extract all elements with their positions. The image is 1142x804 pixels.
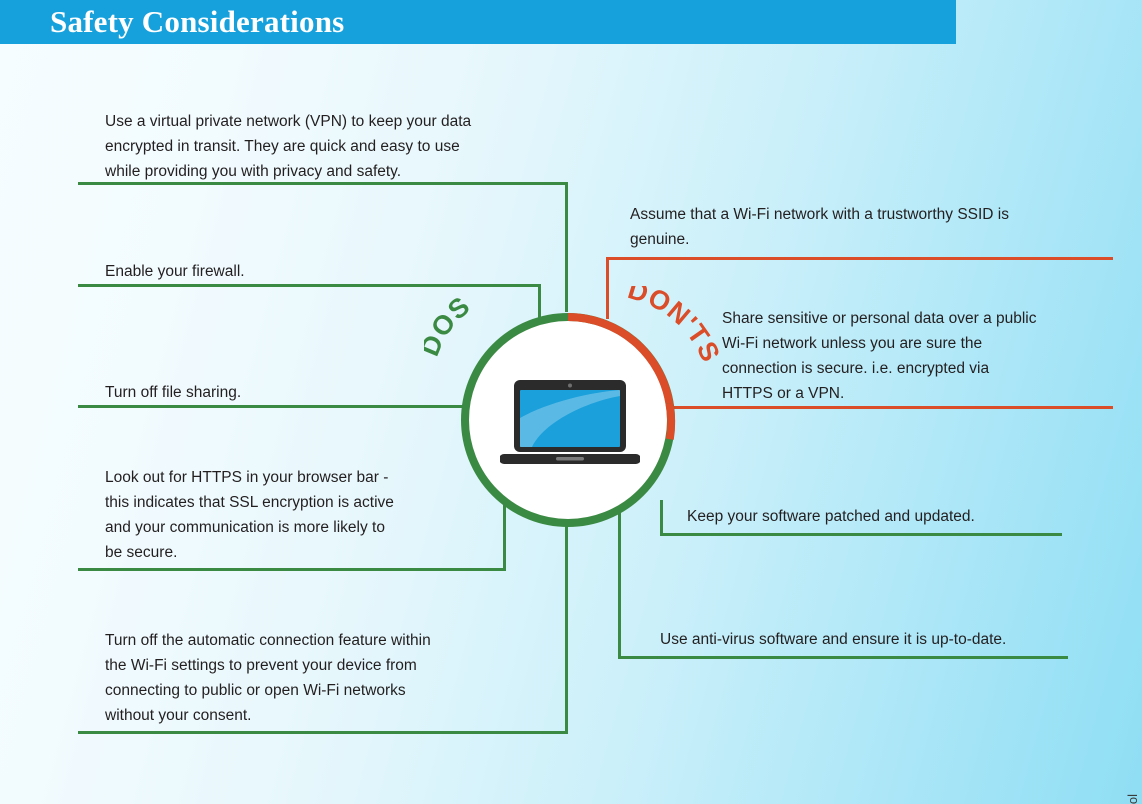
donts-label-text: DON'TS [625,286,726,367]
connector-auto-connect-vertical [565,524,568,734]
donts-label: DON'TS [606,286,726,406]
credit-label: Created by Europol [1125,794,1140,804]
connector-firewall-horizontal [78,284,541,287]
connector-antivirus-vertical [618,512,621,659]
connector-auto-connect-horizontal [78,731,568,734]
tip-patching: Keep your software patched and updated. [687,504,1087,529]
tip-share-sensitive-data: Share sensitive or personal data over a … [722,306,1117,406]
connector-file-sharing-horizontal [78,405,470,408]
svg-text:DON'TS: DON'TS [625,286,726,367]
tip-file-sharing: Turn off file sharing. [105,380,505,405]
dos-label: DOS [424,288,534,383]
connector-patching-horizontal [660,533,1062,536]
tip-trustworthy-ssid: Assume that a Wi-Fi network with a trust… [630,202,1110,252]
dos-label-text: DOS [424,290,476,360]
connector-ssid-horizontal [606,257,1113,260]
tip-vpn: Use a virtual private network (VPN) to k… [105,109,575,184]
page-title: Safety Considerations [50,4,344,40]
infographic-canvas: Safety Considerations [0,0,1142,804]
tip-https: Look out for HTTPS in your browser bar -… [105,465,505,565]
connector-vpn-vertical [565,182,568,312]
tip-auto-connect: Turn off the automatic connection featur… [105,628,555,728]
connector-antivirus-horizontal [618,656,1068,659]
tip-antivirus: Use anti-virus software and ensure it is… [660,627,1100,652]
svg-text:DOS: DOS [424,290,476,360]
tip-firewall: Enable your firewall. [105,259,535,284]
connector-share-data-horizontal [665,406,1113,409]
connector-https-horizontal [78,568,506,571]
